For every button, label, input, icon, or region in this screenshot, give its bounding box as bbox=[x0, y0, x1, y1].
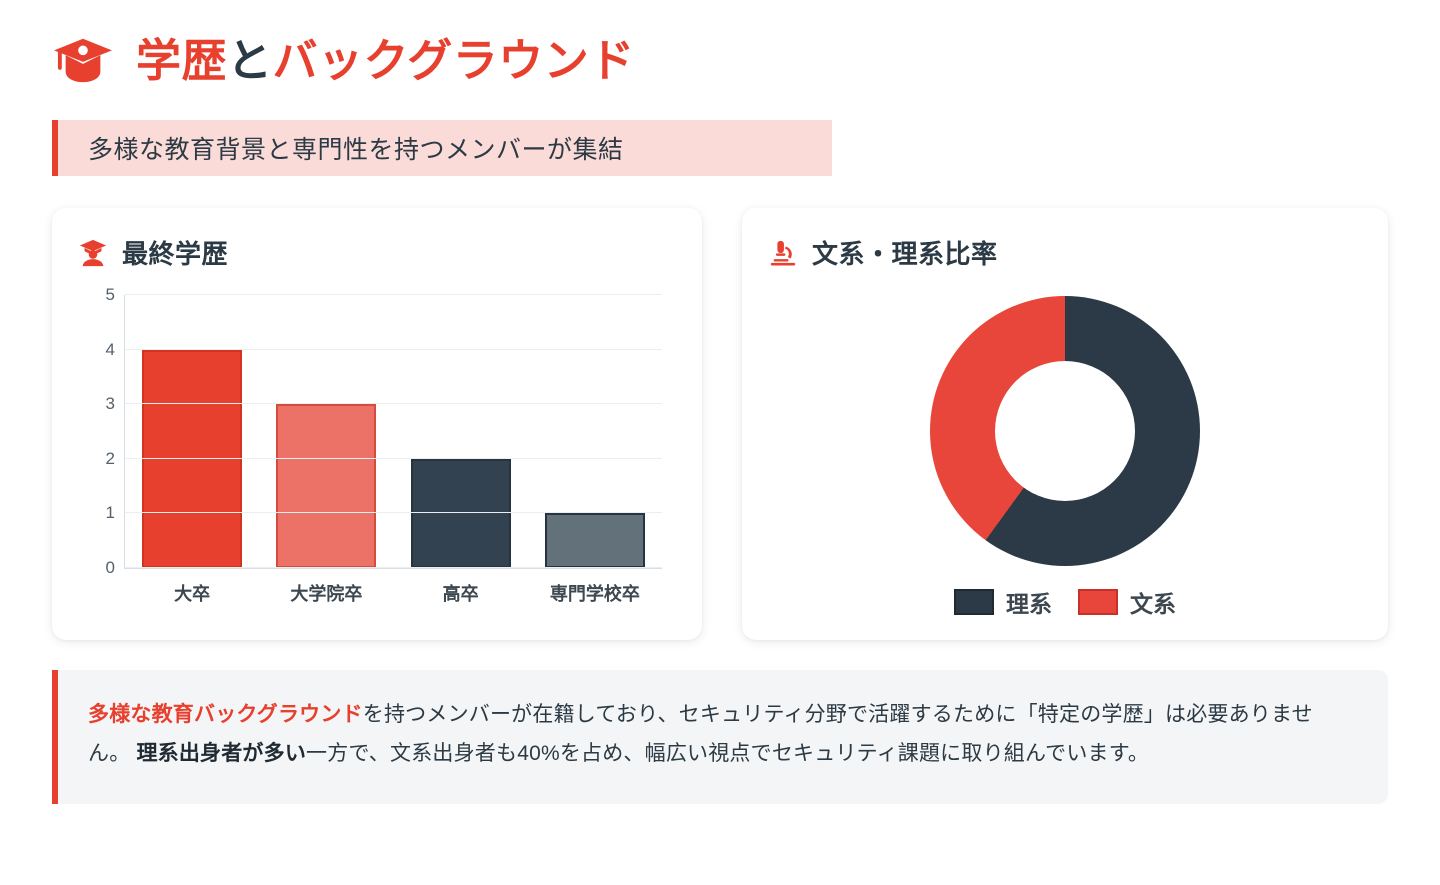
legend-item[interactable]: 理系 bbox=[954, 585, 1052, 619]
x-axis-tick-label: 大学院卒 bbox=[290, 580, 362, 606]
card-title: 最終学歴 bbox=[122, 234, 228, 271]
donut-legend: 理系文系 bbox=[768, 585, 1362, 619]
y-axis-tick-label: 2 bbox=[106, 449, 115, 469]
card-header: 文系・理系比率 bbox=[768, 234, 1362, 271]
summary-note: 多様な教育バックグラウンドを持つメンバーが在籍しており、セキュリティ分野で活躍す… bbox=[52, 670, 1388, 804]
bar-chart-bars: 大卒大学院卒高卒専門学校卒 bbox=[125, 295, 662, 568]
bar[interactable] bbox=[276, 404, 376, 568]
card-education-level: 最終学歴 大卒大学院卒高卒専門学校卒 012345 bbox=[52, 208, 702, 640]
gridline bbox=[125, 349, 662, 350]
bar-column: 高卒 bbox=[394, 295, 528, 568]
note-text-2: 一方で、文系出身者も40%を占め、幅広い視点でセキュリティ課題に取り組んでいます… bbox=[306, 742, 1149, 765]
page-title-part-3: バックグラウンド bbox=[273, 35, 635, 86]
bar-chart-plot-area: 大卒大学院卒高卒専門学校卒 012345 bbox=[124, 295, 662, 569]
bar-chart-education-level: 大卒大学院卒高卒専門学校卒 012345 bbox=[78, 287, 678, 617]
card-title: 文系・理系比率 bbox=[812, 234, 998, 271]
donut-center-hole bbox=[995, 361, 1135, 501]
bar-column: 専門学校卒 bbox=[528, 295, 662, 568]
x-axis-tick-label: 大卒 bbox=[174, 580, 210, 606]
legend-swatch bbox=[1078, 589, 1118, 615]
charts-row: 最終学歴 大卒大学院卒高卒専門学校卒 012345 bbox=[52, 208, 1388, 640]
legend-item[interactable]: 文系 bbox=[1078, 585, 1176, 619]
summary-note-text: 多様な教育バックグラウンドを持つメンバーが在籍しており、セキュリティ分野で活躍す… bbox=[88, 696, 1354, 774]
x-axis-tick-label: 専門学校卒 bbox=[550, 580, 640, 606]
subtitle-text: 多様な教育背景と専門性を持つメンバーが集結 bbox=[88, 130, 624, 166]
note-highlight-red: 多様な教育バックグラウンド bbox=[88, 703, 363, 726]
microscope-icon bbox=[768, 238, 798, 268]
legend-swatch bbox=[954, 589, 994, 615]
page-title-part-1: 学歴 bbox=[136, 35, 227, 86]
user-graduate-icon bbox=[78, 238, 108, 268]
y-axis-tick-label: 1 bbox=[106, 503, 115, 523]
legend-label: 文系 bbox=[1130, 585, 1176, 619]
donut-chart-humanities-science bbox=[768, 281, 1362, 581]
y-axis-tick-label: 0 bbox=[106, 558, 115, 578]
bar[interactable] bbox=[411, 459, 511, 568]
donut-ring bbox=[930, 296, 1200, 566]
gridline bbox=[125, 567, 662, 568]
card-humanities-science-ratio: 文系・理系比率 理系文系 bbox=[742, 208, 1388, 640]
gridline bbox=[125, 458, 662, 459]
note-highlight-dark: 理系出身者が多い bbox=[136, 742, 306, 765]
y-axis-tick-label: 4 bbox=[106, 340, 115, 360]
bar-column: 大学院卒 bbox=[259, 295, 393, 568]
page-title: 学歴とバックグラウンド bbox=[136, 38, 635, 83]
gridline bbox=[125, 403, 662, 404]
subtitle-banner: 多様な教育背景と専門性を持つメンバーが集結 bbox=[52, 120, 832, 176]
gridline bbox=[125, 294, 662, 295]
legend-label: 理系 bbox=[1006, 585, 1052, 619]
y-axis-tick-label: 5 bbox=[106, 285, 115, 305]
education-background-page: 学歴とバックグラウンド 多様な教育背景と専門性を持つメンバーが集結 最終学歴 bbox=[0, 0, 1440, 885]
bar-column: 大卒 bbox=[125, 295, 259, 568]
bar[interactable] bbox=[545, 513, 645, 568]
card-header: 最終学歴 bbox=[78, 234, 676, 271]
x-axis-tick-label: 高卒 bbox=[443, 580, 479, 606]
graduation-cap-icon bbox=[52, 33, 114, 87]
gridline bbox=[125, 512, 662, 513]
y-axis-tick-label: 3 bbox=[106, 394, 115, 414]
page-title-part-2: と bbox=[227, 35, 273, 86]
page-header: 学歴とバックグラウンド bbox=[52, 0, 1388, 96]
